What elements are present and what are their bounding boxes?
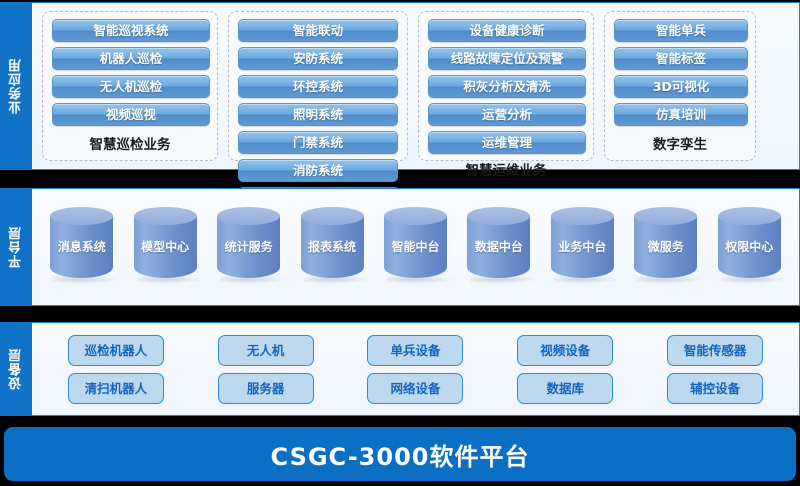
- platform-cylinder-label: 模型中心: [137, 240, 193, 255]
- device-box[interactable]: 服务器: [218, 373, 314, 404]
- device-box[interactable]: 数据库: [517, 373, 613, 404]
- app-group-caption: 智慧巡检业务: [52, 128, 208, 156]
- layer-platform: 平台层 消息系统 模型中心 统计服务: [0, 188, 800, 306]
- device-box[interactable]: 智能传感器: [667, 335, 763, 366]
- cylinder-top-ellipse-icon: [634, 207, 697, 225]
- platform-cylinder[interactable]: 微服务: [634, 207, 697, 287]
- layer-tab-label: 平台层: [7, 226, 26, 268]
- device-box[interactable]: 清扫机器人: [68, 373, 164, 404]
- platform-cylinder[interactable]: 模型中心: [134, 207, 197, 287]
- platform-cylinder[interactable]: 数据中台: [467, 207, 530, 287]
- app-item-button[interactable]: 运维管理: [428, 131, 586, 154]
- app-group-items: 智能巡视系统 机器人巡检 无人机巡检 视频巡视: [52, 19, 208, 128]
- layer-body-business-application: 智能巡视系统 机器人巡检 无人机巡检 视频巡视 智慧巡检业务 智能联动 安防系统…: [32, 2, 800, 170]
- app-item-button[interactable]: 线路故障定位及预警: [428, 47, 586, 70]
- layer-tab-business-application: 业务应用: [0, 2, 32, 170]
- cylinder-top-ellipse-icon: [217, 207, 280, 225]
- app-group-items: 智能联动 安防系统 环控系统 照明系统 门禁系统 消防系统 一次设备在线监测: [238, 19, 398, 210]
- device-box[interactable]: 巡检机器人: [68, 335, 164, 366]
- layer-tab-device: 设备层: [0, 322, 32, 416]
- cylinder-top-ellipse-icon: [384, 207, 447, 225]
- platform-cylinder[interactable]: 业务中台: [551, 207, 614, 287]
- platform-cylinder-label: 智能中台: [387, 240, 443, 255]
- app-item-button[interactable]: 设备健康诊断: [428, 19, 586, 42]
- device-row: 清扫机器人 服务器 网络设备 数据库 辅控设备: [46, 373, 785, 404]
- app-item-button[interactable]: 无人机巡检: [52, 75, 210, 98]
- device-box[interactable]: 单兵设备: [367, 335, 463, 366]
- layer-body-platform: 消息系统 模型中心 统计服务 报表系统: [32, 188, 800, 306]
- app-item-button[interactable]: 门禁系统: [238, 131, 398, 154]
- app-item-button[interactable]: 积灰分析及清洗: [428, 75, 586, 98]
- app-item-button[interactable]: 智能标签: [614, 47, 748, 70]
- device-box[interactable]: 辅控设备: [667, 373, 763, 404]
- layer-tab-platform: 平台层: [0, 188, 32, 306]
- platform-cylinder-label: 统计服务: [221, 240, 277, 255]
- layer-tab-label: 业务应用: [7, 58, 26, 114]
- cylinder-top-ellipse-icon: [301, 207, 364, 225]
- app-group-digital-twin: 智能单兵 智能标签 3D可视化 仿真培训 数字孪生: [604, 11, 756, 161]
- app-item-button[interactable]: 运营分析: [428, 103, 586, 126]
- app-group-auxiliary-control: 智能联动 安防系统 环控系统 照明系统 门禁系统 消防系统 一次设备在线监测 智…: [228, 11, 408, 161]
- app-item-button[interactable]: 机器人巡检: [52, 47, 210, 70]
- platform-cylinder[interactable]: 消息系统: [50, 207, 113, 287]
- device-row: 巡检机器人 无人机 单兵设备 视频设备 智能传感器: [46, 335, 785, 366]
- platform-cylinder[interactable]: 统计服务: [217, 207, 280, 287]
- device-box[interactable]: 视频设备: [517, 335, 613, 366]
- app-item-button[interactable]: 智能单兵: [614, 19, 748, 42]
- cylinder-top-ellipse-icon: [718, 207, 781, 225]
- platform-cylinder[interactable]: 权限中心: [718, 207, 781, 287]
- platform-cylinder-label: 权限中心: [721, 240, 777, 255]
- cylinder-top-ellipse-icon: [551, 207, 614, 225]
- platform-banner: CSGC-3000软件平台: [4, 427, 796, 481]
- app-group-operations: 设备健康诊断 线路故障定位及预警 积灰分析及清洗 运营分析 运维管理 智慧运维业…: [418, 11, 594, 161]
- app-item-button[interactable]: 环控系统: [238, 75, 398, 98]
- platform-cylinder-label: 微服务: [638, 240, 694, 255]
- app-group-items: 设备健康诊断 线路故障定位及预警 积灰分析及清洗 运营分析 运维管理: [428, 19, 584, 154]
- platform-cylinder-label: 报表系统: [304, 240, 360, 255]
- app-item-button[interactable]: 智能巡视系统: [52, 19, 210, 42]
- app-group-inspection: 智能巡视系统 机器人巡检 无人机巡检 视频巡视 智慧巡检业务: [42, 11, 218, 161]
- platform-cylinder-label: 数据中台: [471, 240, 527, 255]
- app-item-button[interactable]: 视频巡视: [52, 103, 210, 126]
- app-item-button[interactable]: 智能联动: [238, 19, 398, 42]
- device-box[interactable]: 网络设备: [367, 373, 463, 404]
- platform-cylinder-label: 消息系统: [54, 240, 110, 255]
- app-item-button[interactable]: 3D可视化: [614, 75, 748, 98]
- app-group-caption: 智慧运维业务: [428, 154, 584, 182]
- layer-tab-label: 设备层: [7, 348, 26, 390]
- app-item-button[interactable]: 安防系统: [238, 47, 398, 70]
- app-group-caption: 数字孪生: [614, 128, 746, 156]
- app-group-items: 智能单兵 智能标签 3D可视化 仿真培训: [614, 19, 746, 128]
- layer-business-application: 业务应用 智能巡视系统 机器人巡检 无人机巡检 视频巡视 智慧巡检业务 智能联动…: [0, 2, 800, 170]
- cylinder-top-ellipse-icon: [134, 207, 197, 225]
- layer-device: 设备层 巡检机器人 无人机 单兵设备 视频设备 智能传感器 清扫机器人 服务器 …: [0, 322, 800, 416]
- platform-cylinder[interactable]: 智能中台: [384, 207, 447, 287]
- app-item-button[interactable]: 仿真培训: [614, 103, 748, 126]
- cylinder-top-ellipse-icon: [50, 207, 113, 225]
- architecture-diagram: 业务应用 智能巡视系统 机器人巡检 无人机巡检 视频巡视 智慧巡检业务 智能联动…: [0, 0, 800, 486]
- app-item-button[interactable]: 照明系统: [238, 103, 398, 126]
- app-item-button[interactable]: 消防系统: [238, 159, 398, 182]
- layer-body-device: 巡检机器人 无人机 单兵设备 视频设备 智能传感器 清扫机器人 服务器 网络设备…: [32, 322, 800, 416]
- device-box[interactable]: 无人机: [218, 335, 314, 366]
- platform-cylinder[interactable]: 报表系统: [301, 207, 364, 287]
- cylinder-top-ellipse-icon: [467, 207, 530, 225]
- platform-cylinder-label: 业务中台: [554, 240, 610, 255]
